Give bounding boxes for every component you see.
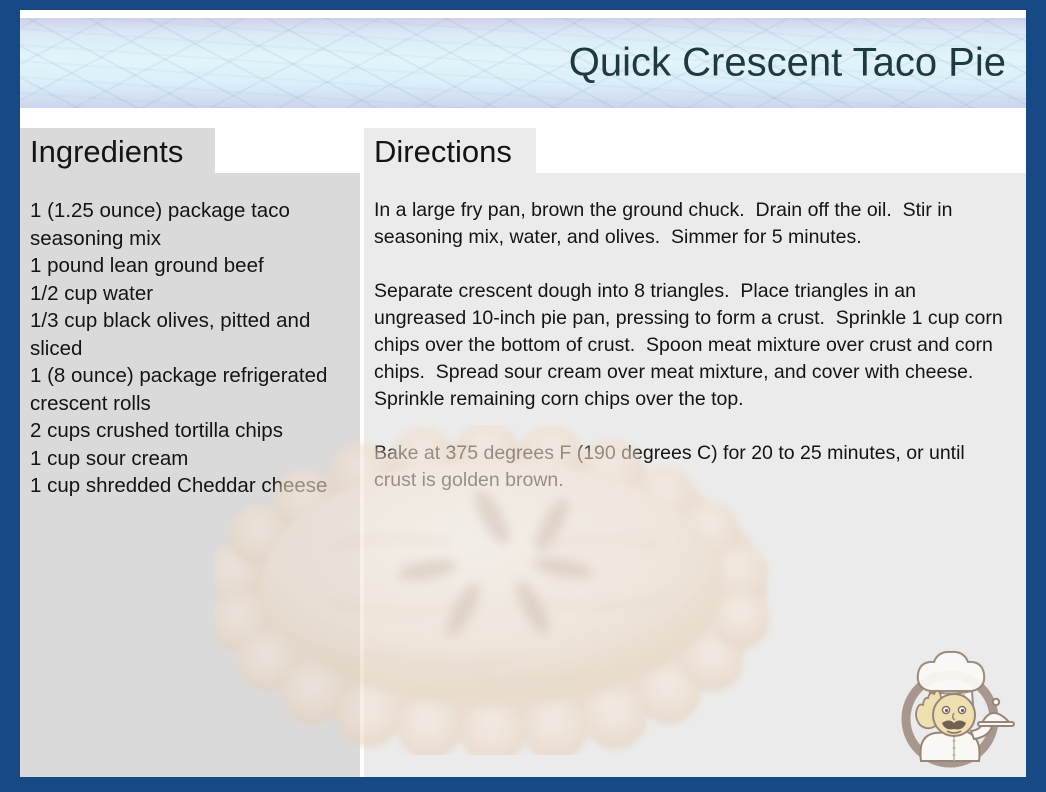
- chef-mascot-logo: [890, 647, 1018, 769]
- ingredients-list: 1 (1.25 ounce) package taco seasoning mi…: [30, 197, 346, 500]
- ingredients-heading-tab: Ingredients: [20, 128, 215, 173]
- ingredient-item: 1 (1.25 ounce) package taco seasoning mi…: [30, 197, 346, 252]
- ingredients-heading-label: Ingredients: [30, 134, 183, 170]
- directions-paragraphs: In a large fry pan, brown the ground chu…: [374, 197, 1012, 494]
- direction-paragraph: Separate crescent dough into 8 triangles…: [374, 278, 1012, 413]
- ingredients-body: 1 (1.25 ounce) package taco seasoning mi…: [20, 173, 360, 777]
- recipe-card: Quick Crescent Taco Pie Ingredients 1 (1…: [0, 0, 1046, 792]
- ingredient-item: 1 cup shredded Cheddar cheese: [30, 472, 346, 500]
- directions-heading-label: Directions: [374, 134, 512, 170]
- ingredient-item: 1 (8 ounce) package refrigerated crescen…: [30, 362, 346, 417]
- direction-paragraph: Bake at 375 degrees F (190 degrees C) fo…: [374, 440, 1012, 494]
- direction-paragraph: In a large fry pan, brown the ground chu…: [374, 197, 1012, 251]
- recipe-card-inner: Quick Crescent Taco Pie Ingredients 1 (1…: [20, 10, 1026, 777]
- ingredient-item: 1/2 cup water: [30, 280, 346, 308]
- title-banner: Quick Crescent Taco Pie: [20, 18, 1026, 108]
- ingredient-item: 1 cup sour cream: [30, 445, 346, 473]
- ingredient-item: 1 pound lean ground beef: [30, 252, 346, 280]
- directions-heading-tab: Directions: [364, 128, 536, 173]
- ingredient-item: 1/3 cup black olives, pitted and sliced: [30, 307, 346, 362]
- page-title: Quick Crescent Taco Pie: [569, 41, 1006, 86]
- ingredient-item: 2 cups crushed tortilla chips: [30, 417, 346, 445]
- ingredients-panel: Ingredients 1 (1.25 ounce) package taco …: [20, 128, 360, 777]
